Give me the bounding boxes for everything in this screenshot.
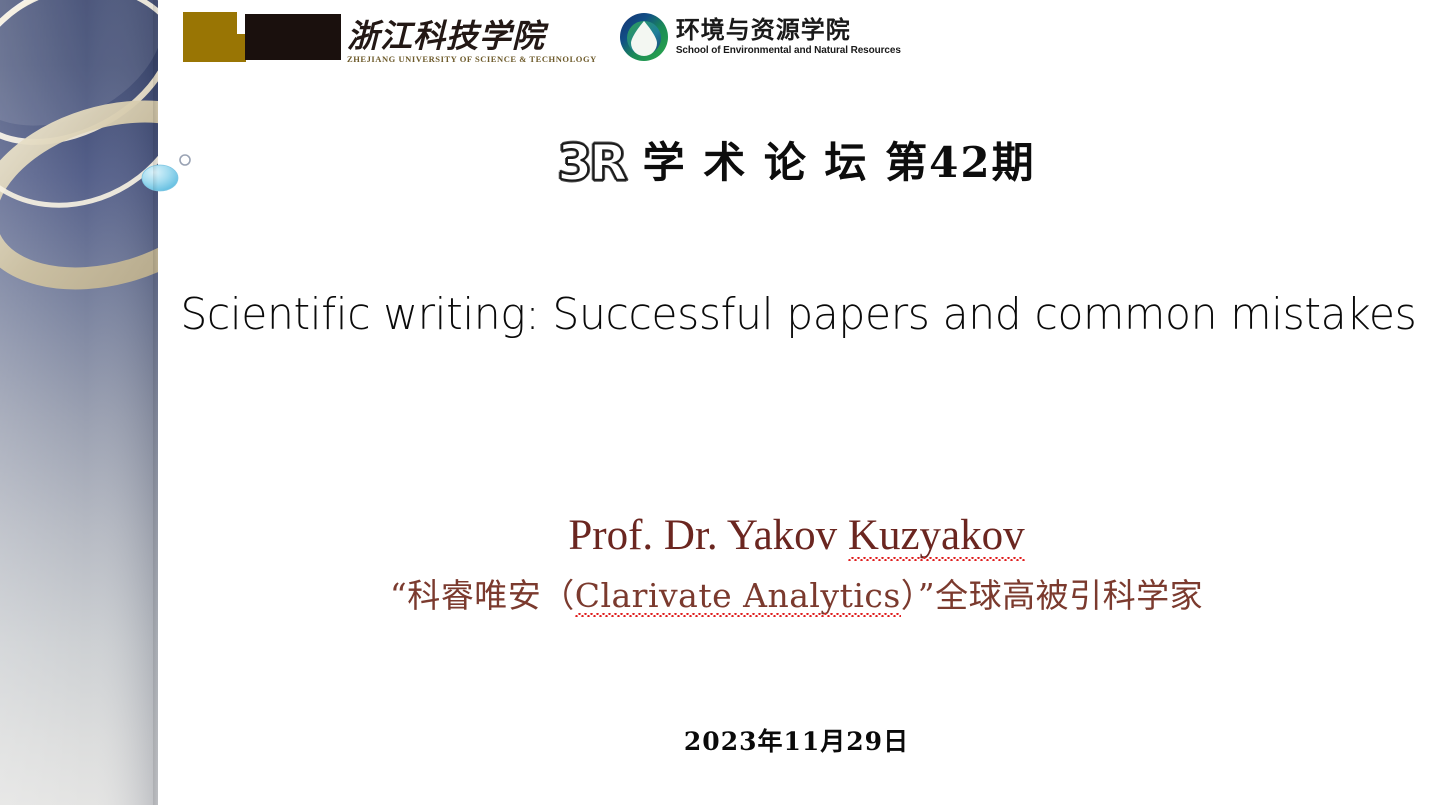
water-droplet-circle-icon: [619, 12, 669, 62]
zust-chinese-name: 浙江科技学院: [347, 20, 597, 52]
sidebar-artwork: [0, 0, 158, 805]
sidebar-edge-shadow: [153, 0, 158, 805]
zust-wordmark: 浙江科技学院 ZHEJIANG UNIVERSITY OF SCIENCE & …: [347, 11, 597, 63]
affiliation-prefix: “科睿唯安（: [390, 576, 575, 615]
logo-zhejiang-university-of-science-and-technology: 浙江科技学院 ZHEJIANG UNIVERSITY OF SCIENCE & …: [183, 9, 597, 65]
speaker-affiliation: “科睿唯安（Clarivate Analytics）”全球高被引科学家: [158, 578, 1435, 615]
decorative-sidebar: [0, 0, 158, 805]
forum-banner: 3R 学 术 论 坛 第42期: [158, 133, 1435, 193]
affiliation-suffix: ）”全球高被引科学家: [901, 576, 1203, 615]
affiliation-brand-misspelled: Clarivate Analytics: [575, 578, 901, 615]
senr-chinese-name: 环境与资源学院: [676, 18, 901, 43]
slide-title: Scientific writing: Successful papers an…: [180, 290, 1412, 341]
zust-english-name: ZHEJIANG UNIVERSITY OF SCIENCE & TECHNOL…: [347, 55, 597, 64]
forum-label: 学 术 论 坛 第42期: [643, 142, 1036, 184]
zust-emblem-icon: [183, 12, 341, 62]
logo-school-of-environmental-and-natural-resources: 环境与资源学院 School of Environmental and Natu…: [619, 9, 901, 65]
speaker-name: Prof. Dr. Yakov Kuzyakov: [158, 512, 1435, 559]
header-logo-row: 浙江科技学院 ZHEJIANG UNIVERSITY OF SCIENCE & …: [183, 8, 901, 66]
forum-3r-badge: 3R: [557, 138, 624, 188]
zust-emblem-gold-block: [183, 12, 237, 62]
senr-english-name: School of Environmental and Natural Reso…: [676, 46, 901, 56]
presentation-slide: 浙江科技学院 ZHEJIANG UNIVERSITY OF SCIENCE & …: [0, 0, 1435, 805]
speaker-surname-misspelled: Kuzyakov: [848, 512, 1025, 559]
senr-wordmark: 环境与资源学院 School of Environmental and Natu…: [676, 18, 901, 56]
slide-date: 2023年11月29日: [158, 728, 1435, 756]
zust-emblem-black-block: [245, 14, 341, 60]
speaker-name-prefix: Prof. Dr. Yakov: [568, 512, 848, 559]
